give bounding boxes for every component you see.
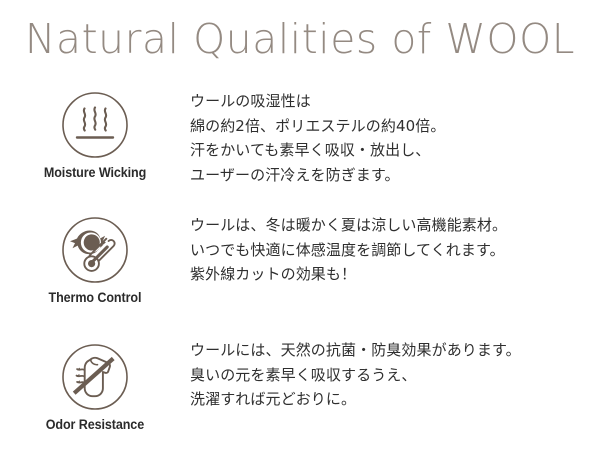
feature-list: Moisture Wicking ウールの吸湿性は 綿の約2倍、ポリエステルの約… bbox=[0, 86, 600, 455]
odor-resistance-icon bbox=[61, 343, 129, 411]
feature-label-thermo-control: Thermo Control bbox=[49, 290, 142, 305]
moisture-wicking-icon bbox=[61, 91, 129, 159]
feature-row-moisture-wicking: Moisture Wicking ウールの吸湿性は 綿の約2倍、ポリエステルの約… bbox=[0, 86, 600, 208]
feature-badge-moisture-wicking: Moisture Wicking bbox=[0, 86, 190, 180]
desc-line: 綿の約2倍、ポリエステルの約40倍。 bbox=[190, 114, 590, 139]
feature-description-moisture-wicking: ウールの吸湿性は 綿の約2倍、ポリエステルの約40倍。 汗をかいても素早く吸収・… bbox=[190, 86, 600, 187]
feature-label-moisture-wicking: Moisture Wicking bbox=[44, 165, 146, 180]
thermo-control-icon bbox=[61, 216, 129, 284]
desc-line: 汗をかいても素早く吸収・放出し、 bbox=[190, 138, 590, 163]
feature-row-odor-resistance: Odor Resistance ウールには、天然の抗菌・防臭効果があります。 臭… bbox=[0, 333, 600, 455]
desc-line: 洗濯すれば元どおりに。 bbox=[190, 387, 590, 412]
feature-row-thermo-control: Thermo Control ウールは、冬は暖かく夏は涼しい高機能素材。 いつで… bbox=[0, 208, 600, 333]
feature-description-odor-resistance: ウールには、天然の抗菌・防臭効果があります。 臭いの元を素早く吸収するうえ、 洗… bbox=[190, 333, 600, 412]
desc-line: 紫外線カットの効果も！ bbox=[190, 262, 590, 287]
desc-line: ユーザーの汗冷えを防ぎます。 bbox=[190, 163, 590, 188]
feature-badge-odor-resistance: Odor Resistance bbox=[0, 333, 190, 432]
desc-line: ウールの吸湿性は bbox=[190, 89, 590, 114]
infographic-page: Natural Qualities of WOOL Moisture Wicki… bbox=[0, 0, 600, 450]
feature-description-thermo-control: ウールは、冬は暖かく夏は涼しい高機能素材。 いつでも快適に体感温度を調節してくれ… bbox=[190, 208, 600, 287]
page-title: Natural Qualities of WOOL bbox=[2, 12, 599, 67]
feature-label-odor-resistance: Odor Resistance bbox=[46, 417, 144, 432]
desc-line: 臭いの元を素早く吸収するうえ、 bbox=[190, 363, 590, 388]
desc-line: ウールは、冬は暖かく夏は涼しい高機能素材。 bbox=[190, 213, 590, 238]
feature-badge-thermo-control: Thermo Control bbox=[0, 208, 190, 305]
desc-line: いつでも快適に体感温度を調節してくれます。 bbox=[190, 238, 590, 263]
desc-line: ウールには、天然の抗菌・防臭効果があります。 bbox=[190, 338, 590, 363]
